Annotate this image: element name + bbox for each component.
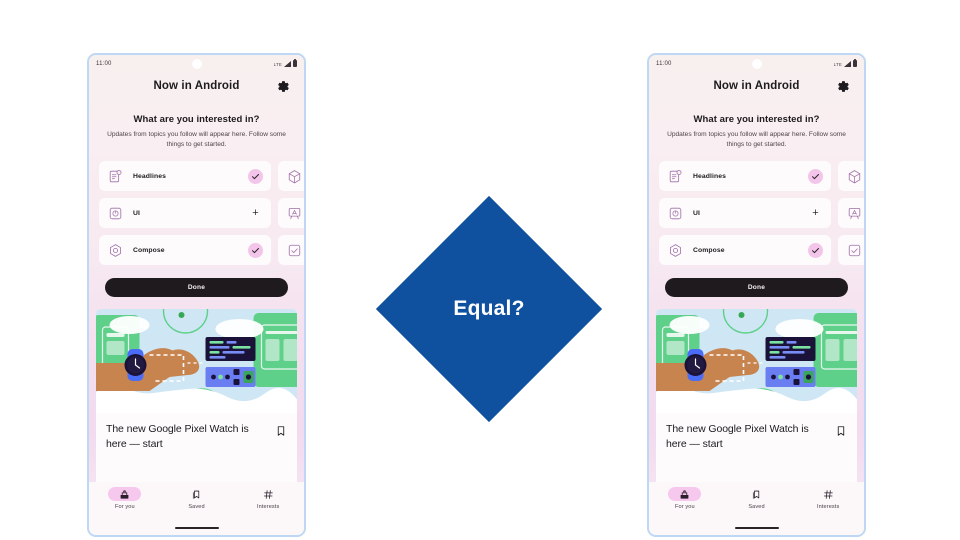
- nav-item-interests[interactable]: Interests: [792, 487, 864, 510]
- interests-title: What are you interested in?: [665, 114, 848, 125]
- easel-icon: [286, 205, 303, 222]
- topic-column-primary: Headlines: [659, 161, 831, 265]
- topic-label: UI: [133, 210, 248, 217]
- phone-mockup-right: 11:00 LTE Now in Android What are you in…: [647, 53, 866, 537]
- nav-label: Interests: [817, 504, 839, 510]
- topic-row-secondary-3[interactable]: [838, 235, 864, 265]
- check-icon: [248, 169, 263, 184]
- for-you-icon: [668, 487, 701, 501]
- topic-grid: Headlines: [99, 161, 304, 265]
- headlines-icon: [107, 168, 124, 185]
- phone-screen: 11:00 LTE Now in Android What are you in…: [649, 55, 864, 535]
- app-title: Now in Android: [154, 80, 240, 92]
- topic-row-secondary-1[interactable]: [278, 161, 304, 191]
- app-title: Now in Android: [714, 80, 800, 92]
- news-card-body: The new Google Pixel Watch is here — sta…: [96, 413, 297, 451]
- nav-item-saved[interactable]: Saved: [161, 487, 233, 510]
- checkbox-icon: [846, 242, 863, 259]
- topic-row-secondary-2[interactable]: [278, 198, 304, 228]
- saved-icon: [180, 487, 213, 501]
- topic-toggle-button[interactable]: [808, 169, 823, 184]
- topic-row-compose[interactable]: Compose: [99, 235, 271, 265]
- status-bar-indicators: LTE: [274, 60, 297, 67]
- topic-column-secondary: [278, 161, 304, 265]
- topic-grid-area: Headlines: [649, 161, 864, 265]
- interests-header: What are you interested in? Updates from…: [649, 100, 864, 149]
- topic-row-secondary-3[interactable]: [278, 235, 304, 265]
- nav-label: For you: [115, 504, 135, 510]
- nav-item-for-you[interactable]: For you: [649, 487, 721, 510]
- plus-icon: +: [812, 208, 818, 219]
- interests-subtitle: Updates from topics you follow will appe…: [105, 130, 288, 149]
- gear-icon[interactable]: [836, 79, 850, 93]
- easel-icon: [846, 205, 863, 222]
- topic-row-ui[interactable]: UI +: [659, 198, 831, 228]
- topic-row-headlines[interactable]: Headlines: [659, 161, 831, 191]
- status-bar: 11:00 LTE: [89, 55, 304, 72]
- checkbox-icon: [286, 242, 303, 259]
- check-icon: [808, 169, 823, 184]
- ui-icon: [667, 205, 684, 222]
- gear-icon[interactable]: [276, 79, 290, 93]
- nav-label: Interests: [257, 504, 279, 510]
- topic-grid: Headlines: [659, 161, 864, 265]
- for-you-icon: [108, 487, 141, 501]
- interests-subtitle: Updates from topics you follow will appe…: [665, 130, 848, 149]
- topic-row-secondary-1[interactable]: [838, 161, 864, 191]
- news-card-title: The new Google Pixel Watch is here — sta…: [106, 422, 269, 451]
- interests-icon: [812, 487, 845, 501]
- interests-icon: [252, 487, 285, 501]
- nav-label: For you: [675, 504, 695, 510]
- compose-icon: [107, 242, 124, 259]
- camera-punch-hole-icon: [192, 59, 202, 69]
- bottom-navigation: For you Saved Interests: [89, 482, 304, 535]
- saved-icon: [740, 487, 773, 501]
- status-bar-network-label: LTE: [834, 62, 842, 67]
- bookmark-icon[interactable]: [835, 424, 848, 437]
- topic-column-primary: Headlines: [99, 161, 271, 265]
- news-card-illustration: [656, 309, 857, 413]
- topic-label: Compose: [693, 247, 808, 254]
- status-bar: 11:00 LTE: [649, 55, 864, 72]
- topic-column-secondary: [838, 161, 864, 265]
- topic-label: UI: [693, 210, 808, 217]
- status-bar-network-label: LTE: [274, 62, 282, 67]
- topic-row-ui[interactable]: UI +: [99, 198, 271, 228]
- topic-toggle-button[interactable]: +: [808, 206, 823, 221]
- check-icon: [248, 243, 263, 258]
- camera-punch-hole-icon: [752, 59, 762, 69]
- comparison-diamond: Equal?: [376, 196, 602, 422]
- nav-item-for-you[interactable]: For you: [89, 487, 161, 510]
- interests-header: What are you interested in? Updates from…: [89, 100, 304, 149]
- done-button-container: Done: [649, 265, 864, 297]
- app-top-bar: Now in Android: [89, 72, 304, 100]
- app-top-bar: Now in Android: [649, 72, 864, 100]
- news-card-illustration: [96, 309, 297, 413]
- status-bar-time: 11:00: [96, 61, 112, 67]
- check-icon: [808, 243, 823, 258]
- done-button-label: Done: [748, 284, 765, 291]
- done-button-container: Done: [89, 265, 304, 297]
- cube-icon: [286, 168, 303, 185]
- topic-row-secondary-2[interactable]: [838, 198, 864, 228]
- news-card-body: The new Google Pixel Watch is here — sta…: [656, 413, 857, 451]
- bottom-navigation: For you Saved Interests: [649, 482, 864, 535]
- topic-label: Headlines: [133, 173, 248, 180]
- nav-item-interests[interactable]: Interests: [232, 487, 304, 510]
- bookmark-icon[interactable]: [275, 424, 288, 437]
- topic-toggle-button[interactable]: [808, 243, 823, 258]
- nav-item-saved[interactable]: Saved: [721, 487, 793, 510]
- news-card-title: The new Google Pixel Watch is here — sta…: [666, 422, 829, 451]
- plus-icon: +: [252, 208, 258, 219]
- compose-icon: [667, 242, 684, 259]
- ui-icon: [107, 205, 124, 222]
- status-bar-indicators: LTE: [834, 60, 857, 67]
- battery-icon: [293, 60, 297, 67]
- signal-bars-icon: [844, 61, 851, 67]
- topic-grid-area: Headlines: [89, 161, 304, 265]
- nav-label: Saved: [748, 504, 764, 510]
- topic-toggle-button[interactable]: [248, 169, 263, 184]
- topic-label: Headlines: [693, 173, 808, 180]
- topic-label: Compose: [133, 247, 248, 254]
- topic-row-compose[interactable]: Compose: [659, 235, 831, 265]
- home-indicator[interactable]: [175, 527, 219, 529]
- status-bar-time: 11:00: [656, 61, 672, 67]
- done-button[interactable]: Done: [665, 278, 848, 297]
- done-button[interactable]: Done: [105, 278, 288, 297]
- comparison-label: Equal?: [376, 196, 602, 422]
- topic-row-headlines[interactable]: Headlines: [99, 161, 271, 191]
- phone-mockup-left: 11:00 LTE Now in Android What are you in…: [87, 53, 306, 537]
- topic-toggle-button[interactable]: [248, 243, 263, 258]
- done-button-label: Done: [188, 284, 205, 291]
- headlines-icon: [667, 168, 684, 185]
- signal-bars-icon: [284, 61, 291, 67]
- cube-icon: [846, 168, 863, 185]
- battery-icon: [853, 60, 857, 67]
- topic-toggle-button[interactable]: +: [248, 206, 263, 221]
- interests-title: What are you interested in?: [105, 114, 288, 125]
- phone-screen: 11:00 LTE Now in Android What are you in…: [89, 55, 304, 535]
- nav-label: Saved: [188, 504, 204, 510]
- home-indicator[interactable]: [735, 527, 779, 529]
